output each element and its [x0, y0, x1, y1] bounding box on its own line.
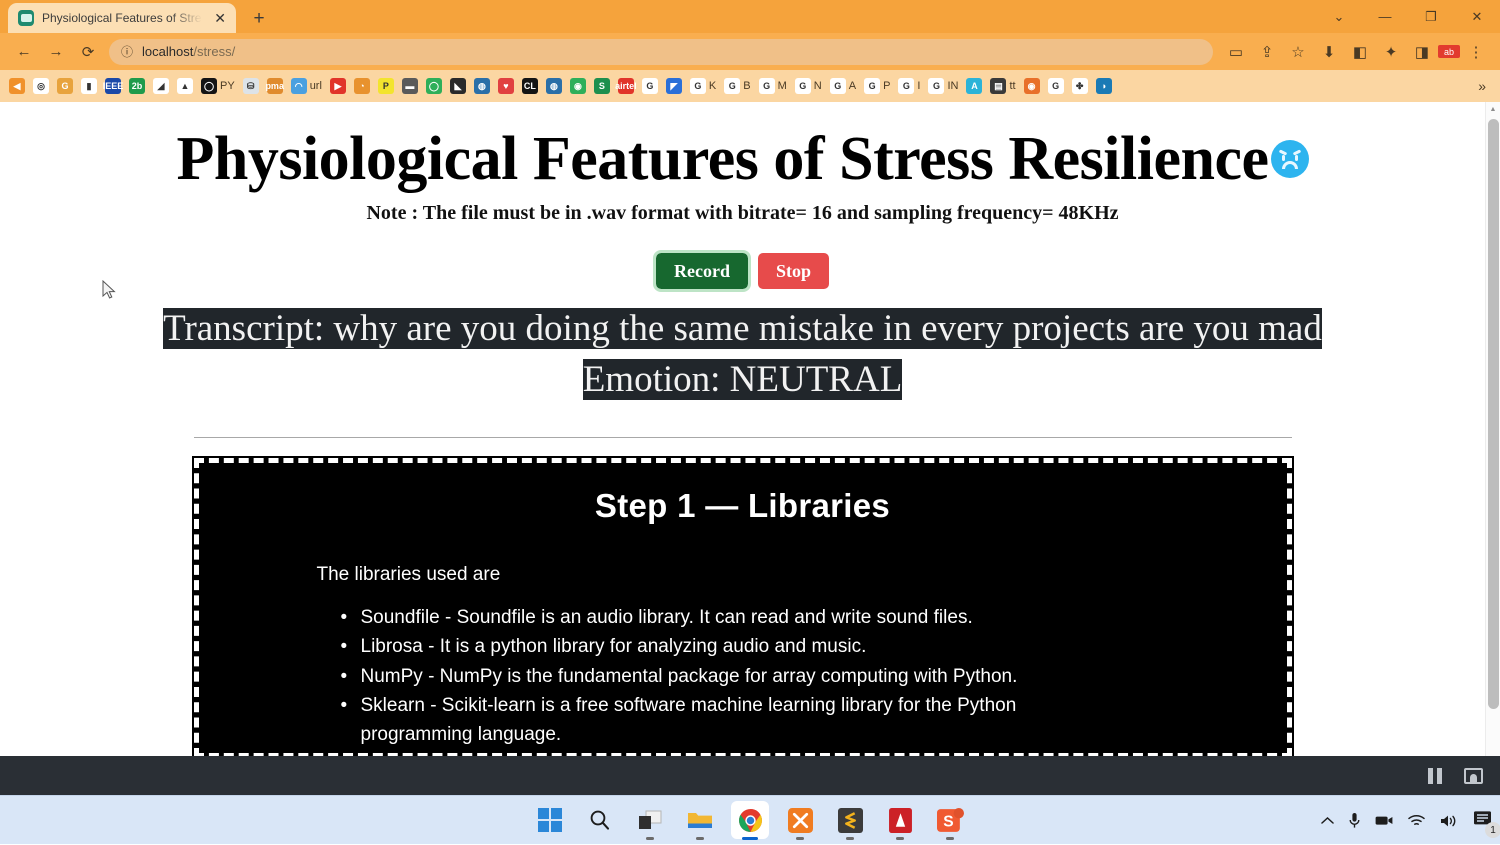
task-view-button[interactable]: [636, 805, 664, 835]
browser-title-bar: Physiological Features of Stress R ✕ + ⌄…: [0, 0, 1500, 33]
bookmark-item[interactable]: GN: [792, 73, 825, 99]
bookmark-item[interactable]: ◠url: [288, 73, 325, 99]
page-scrollbar[interactable]: ▲: [1485, 102, 1500, 795]
start-button[interactable]: [536, 805, 564, 835]
bookmark-favicon-icon: ▲: [177, 78, 193, 94]
bookmark-favicon-icon: ▮: [81, 78, 97, 94]
bookmark-favicon-icon: P: [378, 78, 394, 94]
bookmark-favicon-icon: ◠: [291, 78, 307, 94]
bookmark-label: tt: [1009, 80, 1015, 92]
bookmark-favicon-icon: IEEE: [105, 78, 121, 94]
xampp-icon: [788, 808, 813, 833]
bookmark-item[interactable]: airtel: [615, 73, 637, 99]
bookmark-favicon-icon: G: [759, 78, 775, 94]
sublime-text-button[interactable]: [836, 805, 864, 835]
tab-favicon-icon: [18, 10, 34, 26]
bookmark-item[interactable]: ▤tt: [987, 73, 1018, 99]
bookmark-favicon-icon: ◤: [666, 78, 682, 94]
bookmark-favicon-icon: S: [594, 78, 610, 94]
library-list-item: Librosa - It is a python library for ana…: [339, 632, 1099, 661]
back-icon[interactable]: ←: [9, 37, 39, 67]
bookmark-favicon-icon: ◢: [153, 78, 169, 94]
screen-recording-bar: [0, 756, 1500, 795]
xampp-button[interactable]: [786, 805, 814, 835]
bookmark-item[interactable]: ◉: [1021, 73, 1043, 99]
minimize-icon[interactable]: —: [1362, 0, 1408, 33]
folder-icon: [687, 810, 713, 831]
bookmark-favicon-icon: G: [642, 78, 658, 94]
page-title: Physiological Features of Stress Resilie…: [0, 128, 1485, 190]
bookmark-item[interactable]: G: [54, 73, 76, 99]
bookmark-item[interactable]: CL: [519, 73, 541, 99]
side-panel-icon[interactable]: ◨: [1407, 37, 1437, 67]
screen-recorder-icon[interactable]: ▭: [1221, 37, 1251, 67]
bookmark-item[interactable]: ◉: [567, 73, 589, 99]
windows-logo-icon: [538, 808, 562, 832]
bookmarks-overflow-icon[interactable]: »: [1470, 78, 1494, 94]
bookmark-favicon-icon: ▤: [990, 78, 1006, 94]
page-content: Physiological Features of Stress Resilie…: [0, 102, 1485, 795]
site-info-icon[interactable]: ⓘ: [121, 43, 133, 60]
bookmark-item[interactable]: ▬: [399, 73, 421, 99]
svg-text:S: S: [943, 813, 953, 830]
bookmark-favicon-icon: G: [690, 78, 706, 94]
bookmark-item[interactable]: ✤: [1069, 73, 1091, 99]
bookmark-label: B: [743, 80, 750, 92]
bookmark-item[interactable]: GM: [756, 73, 790, 99]
bookmark-label: IN: [947, 80, 958, 92]
bookmark-label: url: [310, 80, 322, 92]
extensions-puzzle-icon[interactable]: ✦: [1376, 37, 1406, 67]
notifications-button[interactable]: 1: [1473, 810, 1492, 831]
sublime-text-icon: [838, 808, 863, 833]
browser-toolbar: ← → ⟳ ⓘ localhost/stress/ ▭ ⇪ ☆ ⬇ ◧ ✦ ◨ …: [0, 33, 1500, 70]
step-1-libraries-panel: Step 1 — Libraries The libraries used ar…: [194, 458, 1292, 758]
bookmark-item[interactable]: ⛁: [240, 73, 262, 99]
bookmark-favicon-icon: ◍: [546, 78, 562, 94]
libraries-list: Soundfile - Soundfile is an audio librar…: [339, 603, 1287, 750]
tab-title: Physiological Features of Stress R: [42, 11, 202, 25]
bookmark-item[interactable]: ◑: [1093, 73, 1115, 99]
bookmark-item[interactable]: ◍: [471, 73, 493, 99]
step-subtitle: The libraries used are: [317, 564, 1287, 586]
chrome-button[interactable]: [736, 805, 764, 835]
scrollbar-up-arrow-icon[interactable]: ▲: [1486, 102, 1500, 117]
bookmark-favicon-icon: A: [966, 78, 982, 94]
chrome-menu-icon[interactable]: ⋮: [1461, 37, 1491, 67]
bookmark-item[interactable]: G: [639, 73, 661, 99]
search-icon: [589, 809, 611, 831]
angry-face-emoji-icon: [1271, 140, 1309, 178]
bookmark-favicon-icon: G: [57, 78, 73, 94]
bookmark-item[interactable]: ♥: [495, 73, 517, 99]
emotion-text: Emotion: NEUTRAL: [583, 359, 903, 400]
bookmark-item[interactable]: ◣: [447, 73, 469, 99]
bookmark-label: PY: [220, 80, 235, 92]
system-tray: 1: [1321, 796, 1492, 845]
bookmark-label: I: [917, 80, 920, 92]
bookmark-item[interactable]: S: [591, 73, 613, 99]
record-button[interactable]: Record: [656, 253, 748, 289]
tab-search-icon[interactable]: ⌄: [1316, 0, 1362, 33]
bookmark-favicon-icon: ◣: [450, 78, 466, 94]
bookmark-item[interactable]: ▮: [78, 73, 100, 99]
bookmark-item[interactable]: IEEE: [102, 73, 124, 99]
downloads-icon[interactable]: ⬇: [1314, 37, 1344, 67]
bookmark-favicon-icon: ♥: [498, 78, 514, 94]
bookmark-item[interactable]: P: [375, 73, 397, 99]
library-list-item: NumPy - NumPy is the fundamental package…: [339, 662, 1099, 691]
bookmark-label: A: [849, 80, 856, 92]
browser-tab[interactable]: Physiological Features of Stress R ✕: [8, 3, 236, 33]
file-explorer-button[interactable]: [686, 805, 714, 835]
bookmark-favicon-icon: ◀: [9, 78, 25, 94]
bookmark-label: N: [814, 80, 822, 92]
snagit-icon: S: [937, 807, 964, 834]
bookmark-favicon-icon: G: [928, 78, 944, 94]
bookmark-favicon-icon: pma: [267, 78, 283, 94]
chrome-icon: [738, 808, 763, 833]
bookmark-item[interactable]: ◯PY: [198, 73, 238, 99]
bookmark-item[interactable]: ◀: [6, 73, 28, 99]
toolbar-actions: ▭ ⇪ ☆ ⬇ ◧ ✦ ◨ ab ⋮: [1221, 37, 1491, 67]
bookmark-item[interactable]: G: [1045, 73, 1067, 99]
bookmark-favicon-icon: G: [898, 78, 914, 94]
bookmark-favicon-icon: 2b: [129, 78, 145, 94]
bookmark-favicon-icon: G: [830, 78, 846, 94]
bookmark-item[interactable]: ◤: [663, 73, 685, 99]
bookmark-favicon-icon: ▶: [330, 78, 346, 94]
reload-icon[interactable]: ⟳: [73, 37, 103, 67]
bookmark-label: M: [778, 80, 787, 92]
bookmark-item[interactable]: GIN: [925, 73, 961, 99]
emotion-line: Emotion: NEUTRAL: [0, 356, 1485, 403]
address-bar[interactable]: ⓘ localhost/stress/: [109, 39, 1213, 65]
bookmark-star-icon[interactable]: ☆: [1283, 37, 1313, 67]
bookmark-favicon-icon: ✤: [1072, 78, 1088, 94]
bookmark-favicon-icon: ◍: [474, 78, 490, 94]
adblock-icon[interactable]: ab: [1438, 45, 1460, 58]
bookmark-item[interactable]: A: [963, 73, 985, 99]
bookmark-item[interactable]: ◍: [543, 73, 565, 99]
bookmark-item[interactable]: ▲: [174, 73, 196, 99]
capture-snapshot-icon[interactable]: [1456, 761, 1490, 791]
bookmark-item[interactable]: GP: [861, 73, 893, 99]
bookmark-item[interactable]: pma: [264, 73, 286, 99]
library-list-item: Soundfile - Soundfile is an audio librar…: [339, 603, 1099, 632]
bookmark-favicon-icon: ◑: [1096, 78, 1112, 94]
bookmark-favicon-icon: airtel: [618, 78, 634, 94]
share-icon[interactable]: ⇪: [1252, 37, 1282, 67]
bookmark-favicon-icon: G: [724, 78, 740, 94]
bookmark-favicon-icon: ◯: [201, 78, 217, 94]
forward-icon[interactable]: →: [41, 37, 71, 67]
bookmark-favicon-icon: ◯: [426, 78, 442, 94]
bookmark-item[interactable]: GB: [721, 73, 753, 99]
camera-icon[interactable]: [1375, 815, 1393, 826]
step-title: Step 1 — Libraries: [199, 487, 1287, 525]
bookmark-item[interactable]: GK: [687, 73, 719, 99]
volume-icon[interactable]: [1440, 814, 1458, 828]
bookmark-item[interactable]: GA: [827, 73, 859, 99]
pause-recording-icon[interactable]: [1418, 761, 1452, 791]
page-title-text: Physiological Features of Stress Resilie…: [176, 128, 1268, 190]
page-viewport: Physiological Features of Stress Resilie…: [0, 102, 1500, 795]
bookmark-favicon-icon: G: [864, 78, 880, 94]
tab-close-icon[interactable]: ✕: [210, 9, 230, 27]
bookmark-item[interactable]: 2b: [126, 73, 148, 99]
new-tab-button[interactable]: +: [248, 9, 270, 28]
profile-icon[interactable]: ◧: [1345, 37, 1375, 67]
bookmark-favicon-icon: CL: [522, 78, 538, 94]
microphone-icon[interactable]: [1349, 812, 1360, 829]
bookmark-favicon-icon: ◉: [570, 78, 586, 94]
search-button[interactable]: [586, 805, 614, 835]
bookmark-favicon-icon: ◔: [354, 78, 370, 94]
bookmark-item[interactable]: ◢: [150, 73, 172, 99]
bookmark-favicon-icon: ▬: [402, 78, 418, 94]
bookmark-favicon-icon: G: [795, 78, 811, 94]
notification-count-badge: 1: [1485, 822, 1500, 838]
bookmark-item[interactable]: GI: [895, 73, 923, 99]
bookmark-item[interactable]: ▶: [327, 73, 349, 99]
format-note: Note : The file must be in .wav format w…: [0, 202, 1485, 225]
bookmark-label: P: [883, 80, 890, 92]
bookmark-favicon-icon: ⛁: [243, 78, 259, 94]
wifi-icon[interactable]: [1408, 814, 1425, 827]
taskbar-apps: S: [536, 805, 964, 835]
task-view-icon: [638, 810, 662, 831]
bookmark-favicon-icon: ◎: [33, 78, 49, 94]
transcript-line: Transcript: why are you doing the same m…: [0, 305, 1485, 352]
window-controls: ⌄ — ❐ ✕: [1316, 0, 1500, 33]
bookmark-favicon-icon: G: [1048, 78, 1064, 94]
scrollbar-thumb[interactable]: [1488, 119, 1499, 709]
bookmark-item[interactable]: ◔: [351, 73, 373, 99]
bookmark-label: K: [709, 80, 716, 92]
bookmark-item[interactable]: ◯: [423, 73, 445, 99]
bookmarks-bar: ◀◎G▮IEEE2b◢▲◯PY⛁pma◠url▶◔P▬◯◣◍♥CL◍◉Sairt…: [0, 70, 1500, 102]
library-list-item: Sklearn - Scikit-learn is a free softwar…: [339, 691, 1099, 750]
adobe-acrobat-button[interactable]: [886, 805, 914, 835]
result-area: Transcript: why are you doing the same m…: [0, 305, 1485, 404]
adobe-acrobat-icon: [889, 808, 912, 833]
transcript-text: Transcript: why are you doing the same m…: [163, 308, 1322, 349]
address-bar-url: localhost/stress/: [142, 44, 235, 59]
show-hidden-icons-chevron-icon[interactable]: [1321, 816, 1334, 825]
snagit-button[interactable]: S: [936, 805, 964, 835]
windows-taskbar: S: [0, 795, 1500, 844]
maximize-icon[interactable]: ❐: [1408, 0, 1454, 33]
section-divider: [194, 437, 1292, 438]
browser-window: Physiological Features of Stress R ✕ + ⌄…: [0, 0, 1500, 795]
bookmark-item[interactable]: ◎: [30, 73, 52, 99]
bookmark-favicon-icon: ◉: [1024, 78, 1040, 94]
stop-button[interactable]: Stop: [758, 253, 829, 289]
recording-controls: Record Stop: [0, 253, 1485, 289]
close-icon[interactable]: ✕: [1454, 0, 1500, 33]
